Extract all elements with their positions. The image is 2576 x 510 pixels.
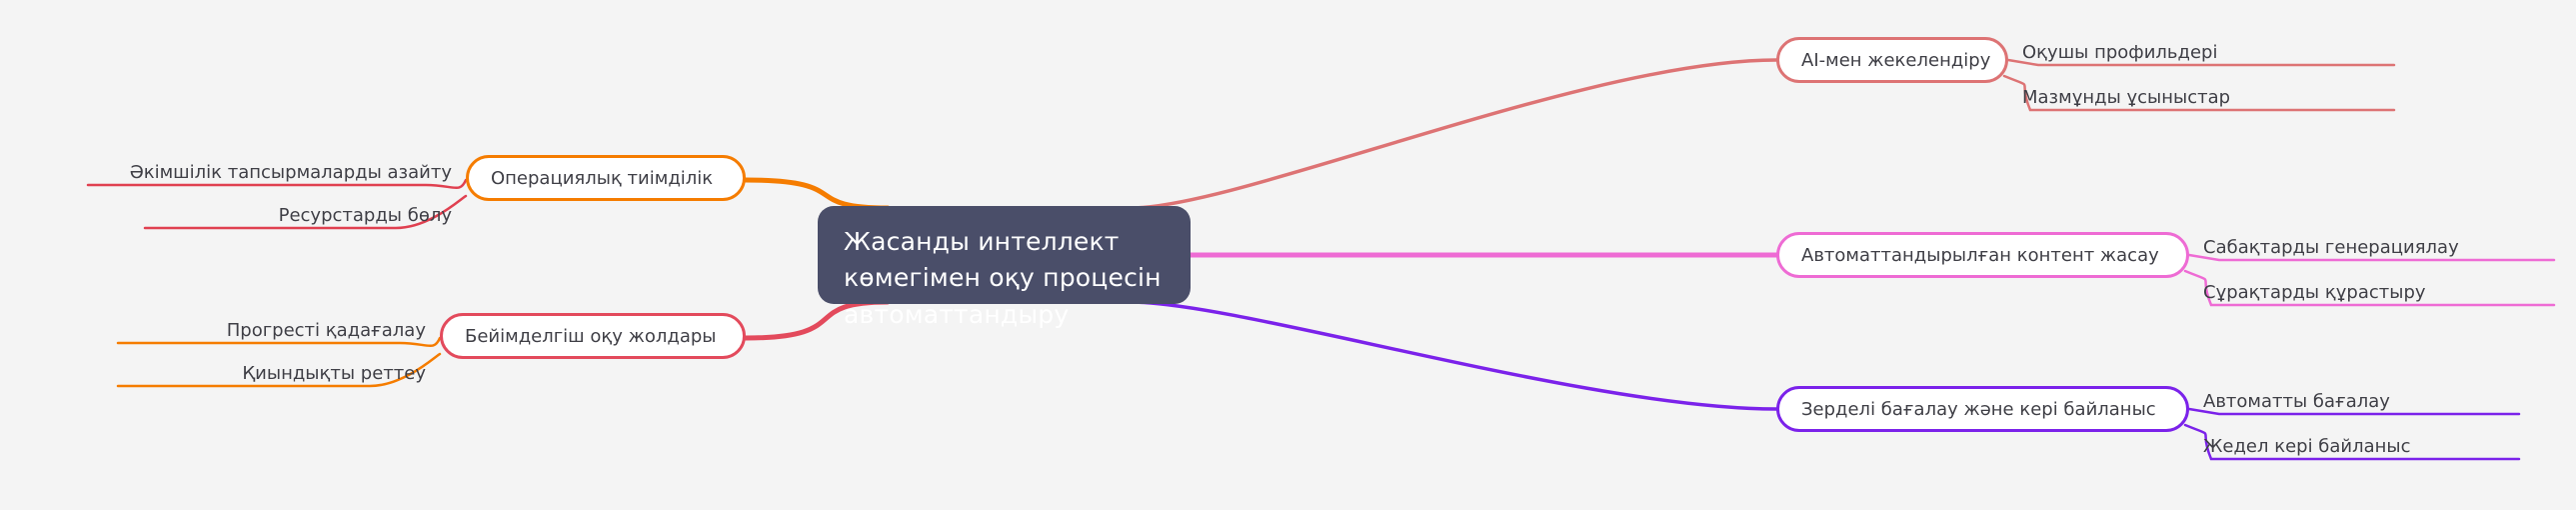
leaf-node-lesson-generation[interactable]: Сабақтарды генерациялау bbox=[2203, 228, 2553, 258]
branch-label: Автоматтандырылған контент жасау bbox=[1801, 245, 2159, 266]
leaf-node-question-construction[interactable]: Сұрақтарды құрастыру bbox=[2203, 273, 2553, 303]
branch-label: Зерделі бағалау және кері байланыс bbox=[1801, 399, 2156, 420]
leaf-label: Сұрақтарды құрастыру bbox=[2203, 282, 2426, 303]
branch-node-automated-content-creation[interactable]: Автоматтандырылған контент жасау bbox=[1776, 232, 2189, 278]
branch-node-ai-personalization[interactable]: AI-мен жекелендіру bbox=[1776, 37, 2008, 83]
leaf-node-resource-allocation[interactable]: Ресурстарды бөлу bbox=[166, 196, 466, 226]
branch-node-adaptive-learning-paths[interactable]: Бейімделгіш оқу жолдары bbox=[440, 313, 746, 359]
branch-label: Бейімделгіш оқу жолдары bbox=[465, 326, 716, 347]
branch-node-smart-assessment-feedback[interactable]: Зерделі бағалау және кері байланыс bbox=[1776, 386, 2189, 432]
branch-label: AI-мен жекелендіру bbox=[1801, 50, 1990, 71]
leaf-node-reduce-admin-tasks[interactable]: Әкімшілік тапсырмаларды азайту bbox=[106, 153, 466, 183]
leaf-label: Автоматты бағалау bbox=[2203, 391, 2390, 412]
leaf-label: Жедел кері байланыс bbox=[2203, 436, 2411, 457]
leaf-label: Мазмұнды ұсыныстар bbox=[2022, 87, 2230, 108]
leaf-label: Әкімшілік тапсырмаларды азайту bbox=[130, 162, 452, 183]
root-node[interactable]: Жасанды интеллект көмегімен оқу процесін… bbox=[818, 206, 1191, 304]
leaf-node-instant-feedback[interactable]: Жедел кері байланыс bbox=[2203, 427, 2523, 457]
leaf-node-progress-monitoring[interactable]: Прогресті қадағалау bbox=[135, 311, 440, 341]
leaf-label: Қиындықты реттеу bbox=[242, 363, 426, 384]
root-label-line2: автоматтандыру bbox=[844, 297, 1165, 333]
leaf-label: Прогресті қадағалау bbox=[227, 320, 426, 341]
leaf-label: Оқушы профильдері bbox=[2022, 42, 2217, 63]
mindmap-canvas: Жасанды интеллект көмегімен оқу процесін… bbox=[0, 0, 2576, 510]
branch-node-operational-efficiency[interactable]: Операциялық тиімділік bbox=[466, 155, 746, 201]
root-label-line1: Жасанды интеллект көмегімен оқу процесін bbox=[844, 224, 1165, 297]
branch-label: Операциялық тиімділік bbox=[491, 168, 713, 189]
leaf-node-automatic-grading[interactable]: Автоматты бағалау bbox=[2203, 382, 2523, 412]
leaf-label: Ресурстарды бөлу bbox=[279, 205, 452, 226]
connector-layer bbox=[0, 0, 2576, 510]
leaf-node-content-recommendations[interactable]: Мазмұнды ұсыныстар bbox=[2022, 78, 2392, 108]
leaf-label: Сабақтарды генерациялау bbox=[2203, 237, 2459, 258]
leaf-node-difficulty-adjustment[interactable]: Қиындықты реттеу bbox=[135, 354, 440, 384]
leaf-node-student-profiles[interactable]: Оқушы профильдері bbox=[2022, 33, 2392, 63]
